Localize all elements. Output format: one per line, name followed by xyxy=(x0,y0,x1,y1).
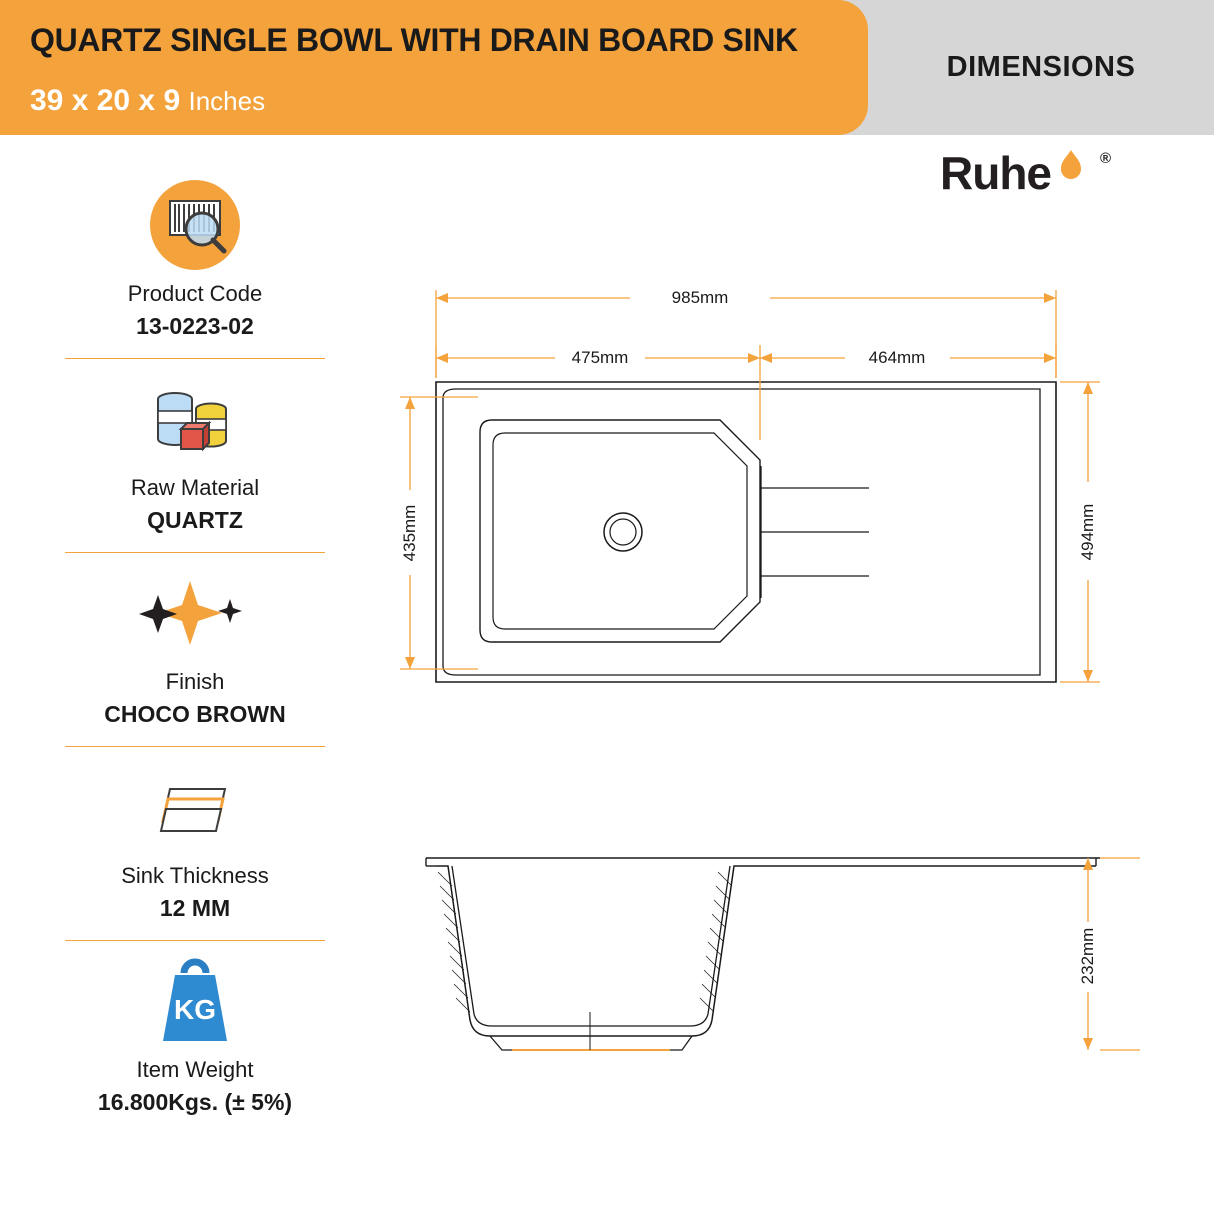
section-view-drawing: 232mm xyxy=(426,858,1140,1050)
dim-bowl-depth: 232mm xyxy=(1078,928,1097,985)
spec-divider xyxy=(65,746,325,747)
spec-list: Product Code 13-0223-02 Raw Material QUA… xyxy=(60,165,330,1134)
weight-bag-icon: KG xyxy=(60,955,330,1047)
spec-item-raw-material: Raw Material QUARTZ xyxy=(60,373,330,552)
sparkle-icon xyxy=(60,567,330,659)
spec-value: QUARTZ xyxy=(60,507,330,534)
spec-value: 16.800Kgs. (± 5%) xyxy=(60,1089,330,1116)
spec-label: Product Code xyxy=(60,281,330,307)
spec-label: Raw Material xyxy=(60,475,330,501)
section-label: DIMENSIONS xyxy=(868,0,1214,135)
spec-divider xyxy=(65,552,325,553)
spec-divider xyxy=(65,940,325,941)
product-size: 39 x 20 x 9 Inches xyxy=(30,84,265,118)
svg-text:KG: KG xyxy=(174,994,216,1025)
spec-item-product-code: Product Code 13-0223-02 xyxy=(60,179,330,358)
barcode-scan-icon xyxy=(60,179,330,271)
paint-cans-icon xyxy=(60,373,330,465)
dim-bowl-height: 435mm xyxy=(400,505,419,562)
dim-drainboard-width: 464mm xyxy=(869,348,926,367)
spec-label: Sink Thickness xyxy=(60,863,330,889)
spec-item-thickness: Sink Thickness 12 MM xyxy=(60,761,330,940)
header: QUARTZ SINGLE BOWL WITH DRAIN BOARD SINK… xyxy=(0,0,1214,137)
spec-value: 13-0223-02 xyxy=(60,313,330,340)
technical-drawings: 985mm 475mm 464mm xyxy=(340,150,1214,1214)
product-size-unit: Inches xyxy=(188,86,265,116)
spec-value: 12 MM xyxy=(60,895,330,922)
spec-value: CHOCO BROWN xyxy=(60,701,330,728)
dim-bowl-width: 475mm xyxy=(572,348,629,367)
page-title: QUARTZ SINGLE BOWL WITH DRAIN BOARD SINK xyxy=(30,22,798,59)
dim-overall-depth: 494mm xyxy=(1078,504,1097,561)
product-size-number: 39 x 20 x 9 xyxy=(30,84,180,117)
dim-overall-width: 985mm xyxy=(672,288,729,307)
top-view-drawing: 985mm 475mm 464mm xyxy=(400,288,1100,682)
spec-label: Finish xyxy=(60,669,330,695)
spec-item-weight: KG Item Weight 16.800Kgs. (± 5%) xyxy=(60,955,330,1134)
spec-label: Item Weight xyxy=(60,1057,330,1083)
spec-item-finish: Finish CHOCO BROWN xyxy=(60,567,330,746)
sheet-layers-icon xyxy=(60,761,330,853)
spec-divider xyxy=(65,358,325,359)
